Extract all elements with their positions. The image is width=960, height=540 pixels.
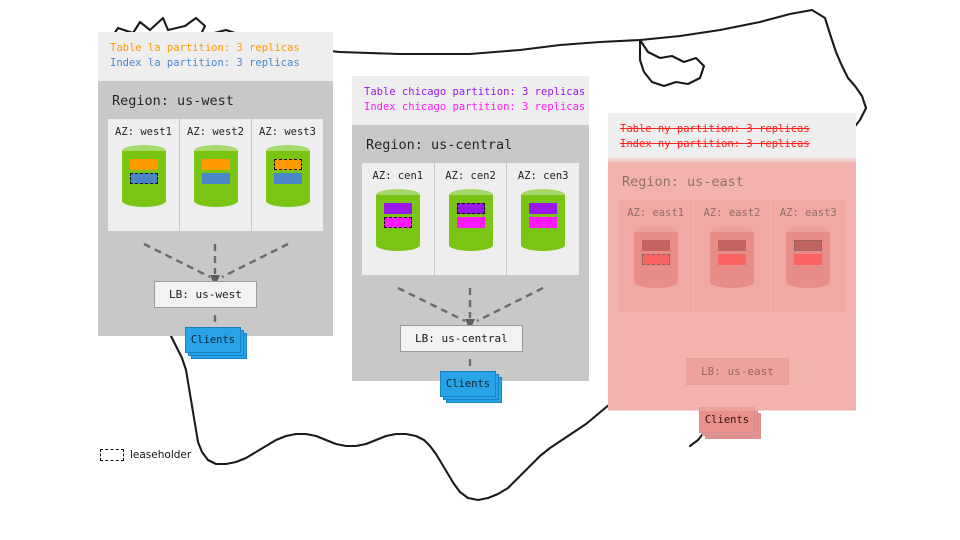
- region-title-us-east: Region: us-east: [608, 162, 856, 200]
- replica-band-index: [529, 217, 557, 228]
- cylinder-bottom: [194, 195, 238, 207]
- cylinder-bottom: [449, 239, 493, 251]
- az-cell-cen1[interactable]: AZ: cen1: [362, 163, 435, 275]
- node-cylinder-east1[interactable]: [634, 226, 678, 288]
- replica-bands: [449, 203, 493, 231]
- replica-band-index-leaseholder: [130, 173, 158, 184]
- clients-label: Clients: [699, 407, 755, 433]
- replica-bands: [376, 203, 420, 231]
- az-strip-us-central: AZ: cen1 AZ: cen2: [362, 163, 579, 275]
- node-cylinder-cen2[interactable]: [449, 189, 493, 251]
- replica-band-table-leaseholder: [794, 240, 822, 251]
- region-title-us-central: Region: us-central: [352, 125, 589, 163]
- az-cell-east2[interactable]: AZ: east2: [694, 200, 770, 312]
- az-cell-cen3[interactable]: AZ: cen3: [507, 163, 579, 275]
- cylinder-bottom: [266, 195, 310, 207]
- az-strip-us-east: AZ: east1 AZ: east2: [618, 200, 846, 312]
- cylinder-bottom: [634, 276, 678, 288]
- az-cell-east1[interactable]: AZ: east1: [618, 200, 694, 312]
- callout-us-central: Table chicago partition: 3 replicas Inde…: [352, 76, 589, 125]
- callout-line-index-ny: Index ny partition: 3 replicas: [620, 137, 844, 152]
- cylinder-bottom: [376, 239, 420, 251]
- clients-stack-us-west[interactable]: Clients: [185, 327, 241, 353]
- diagram-canvas: Table la partition: 3 replicas Index la …: [0, 0, 960, 540]
- callout-line-table-la: Table la partition: 3 replicas: [110, 41, 321, 56]
- callout-line-index-la: Index la partition: 3 replicas: [110, 56, 321, 71]
- az-cell-west1[interactable]: AZ: west1: [108, 119, 180, 231]
- az-cell-cen2[interactable]: AZ: cen2: [435, 163, 508, 275]
- replica-band-index: [794, 254, 822, 265]
- replica-band-index: [457, 217, 485, 228]
- callout-line-index-chicago: Index chicago partition: 3 replicas: [364, 100, 577, 115]
- replica-bands: [786, 240, 830, 268]
- replica-band-table: [642, 240, 670, 251]
- az-cell-east3[interactable]: AZ: east3: [771, 200, 846, 312]
- az-label-west3: AZ: west3: [252, 126, 323, 138]
- az-strip-us-west: AZ: west1 AZ: west2: [108, 119, 323, 231]
- region-panel-us-west: Table la partition: 3 replicas Index la …: [98, 32, 333, 336]
- az-label-east2: AZ: east2: [694, 207, 769, 219]
- replica-band-index: [718, 254, 746, 265]
- replica-band-index-leaseholder: [384, 217, 412, 228]
- clients-label: Clients: [185, 327, 241, 353]
- region-body-us-central: Region: us-central AZ: cen1: [352, 125, 589, 381]
- replica-band-table: [529, 203, 557, 214]
- az-cell-west2[interactable]: AZ: west2: [180, 119, 252, 231]
- lb-box-us-east[interactable]: LB: us-east: [686, 358, 789, 385]
- replica-band-index: [274, 173, 302, 184]
- cylinder-bottom: [786, 276, 830, 288]
- replica-bands: [710, 240, 754, 268]
- replica-band-table-leaseholder: [274, 159, 302, 170]
- node-cylinder-west3[interactable]: [266, 145, 310, 207]
- region-panel-us-central: Table chicago partition: 3 replicas Inde…: [352, 76, 589, 381]
- region-title-us-west: Region: us-west: [98, 81, 333, 119]
- az-label-cen3: AZ: cen3: [507, 170, 579, 182]
- legend-leaseholder: leaseholder: [100, 449, 191, 461]
- region-body-us-east: Region: us-east AZ: east1 AZ: [608, 162, 856, 410]
- cylinder-bottom: [521, 239, 565, 251]
- node-cylinder-cen3[interactable]: [521, 189, 565, 251]
- replica-band-table-leaseholder: [457, 203, 485, 214]
- replica-band-table: [718, 240, 746, 251]
- replica-bands: [266, 159, 310, 187]
- clients-label: Clients: [440, 371, 496, 397]
- region-body-us-west: Region: us-west AZ: west1 AZ: [98, 81, 333, 336]
- az-label-west2: AZ: west2: [180, 126, 251, 138]
- az-label-east1: AZ: east1: [618, 207, 693, 219]
- callout-us-east: Table ny partition: 3 replicas Index ny …: [608, 113, 856, 162]
- az-label-west1: AZ: west1: [108, 126, 179, 138]
- callout-line-table-chicago: Table chicago partition: 3 replicas: [364, 85, 577, 100]
- clients-stack-us-central[interactable]: Clients: [440, 371, 496, 397]
- replica-bands: [122, 159, 166, 187]
- node-cylinder-west2[interactable]: [194, 145, 238, 207]
- az-label-east3: AZ: east3: [771, 207, 846, 219]
- replica-band-table: [130, 159, 158, 170]
- replica-band-index-leaseholder: [642, 254, 670, 265]
- lb-box-us-west[interactable]: LB: us-west: [154, 281, 257, 308]
- az-cell-west3[interactable]: AZ: west3: [252, 119, 323, 231]
- node-cylinder-west1[interactable]: [122, 145, 166, 207]
- clients-stack-us-east[interactable]: Clients: [699, 407, 755, 433]
- cylinder-bottom: [710, 276, 754, 288]
- callout-us-west: Table la partition: 3 replicas Index la …: [98, 32, 333, 81]
- az-label-cen1: AZ: cen1: [362, 170, 434, 182]
- replica-band-index: [202, 173, 230, 184]
- lb-box-us-central[interactable]: LB: us-central: [400, 325, 523, 352]
- callout-line-table-ny: Table ny partition: 3 replicas: [620, 122, 844, 137]
- replica-bands: [521, 203, 565, 231]
- replica-band-table: [384, 203, 412, 214]
- node-cylinder-east3[interactable]: [786, 226, 830, 288]
- node-cylinder-east2[interactable]: [710, 226, 754, 288]
- cylinder-bottom: [122, 195, 166, 207]
- az-label-cen2: AZ: cen2: [435, 170, 507, 182]
- replica-bands: [194, 159, 238, 187]
- node-cylinder-cen1[interactable]: [376, 189, 420, 251]
- replica-bands: [634, 240, 678, 268]
- legend-label: leaseholder: [130, 449, 191, 461]
- region-panel-us-east: Table ny partition: 3 replicas Index ny …: [608, 113, 856, 410]
- replica-band-table: [202, 159, 230, 170]
- dashed-rect-icon: [100, 449, 124, 461]
